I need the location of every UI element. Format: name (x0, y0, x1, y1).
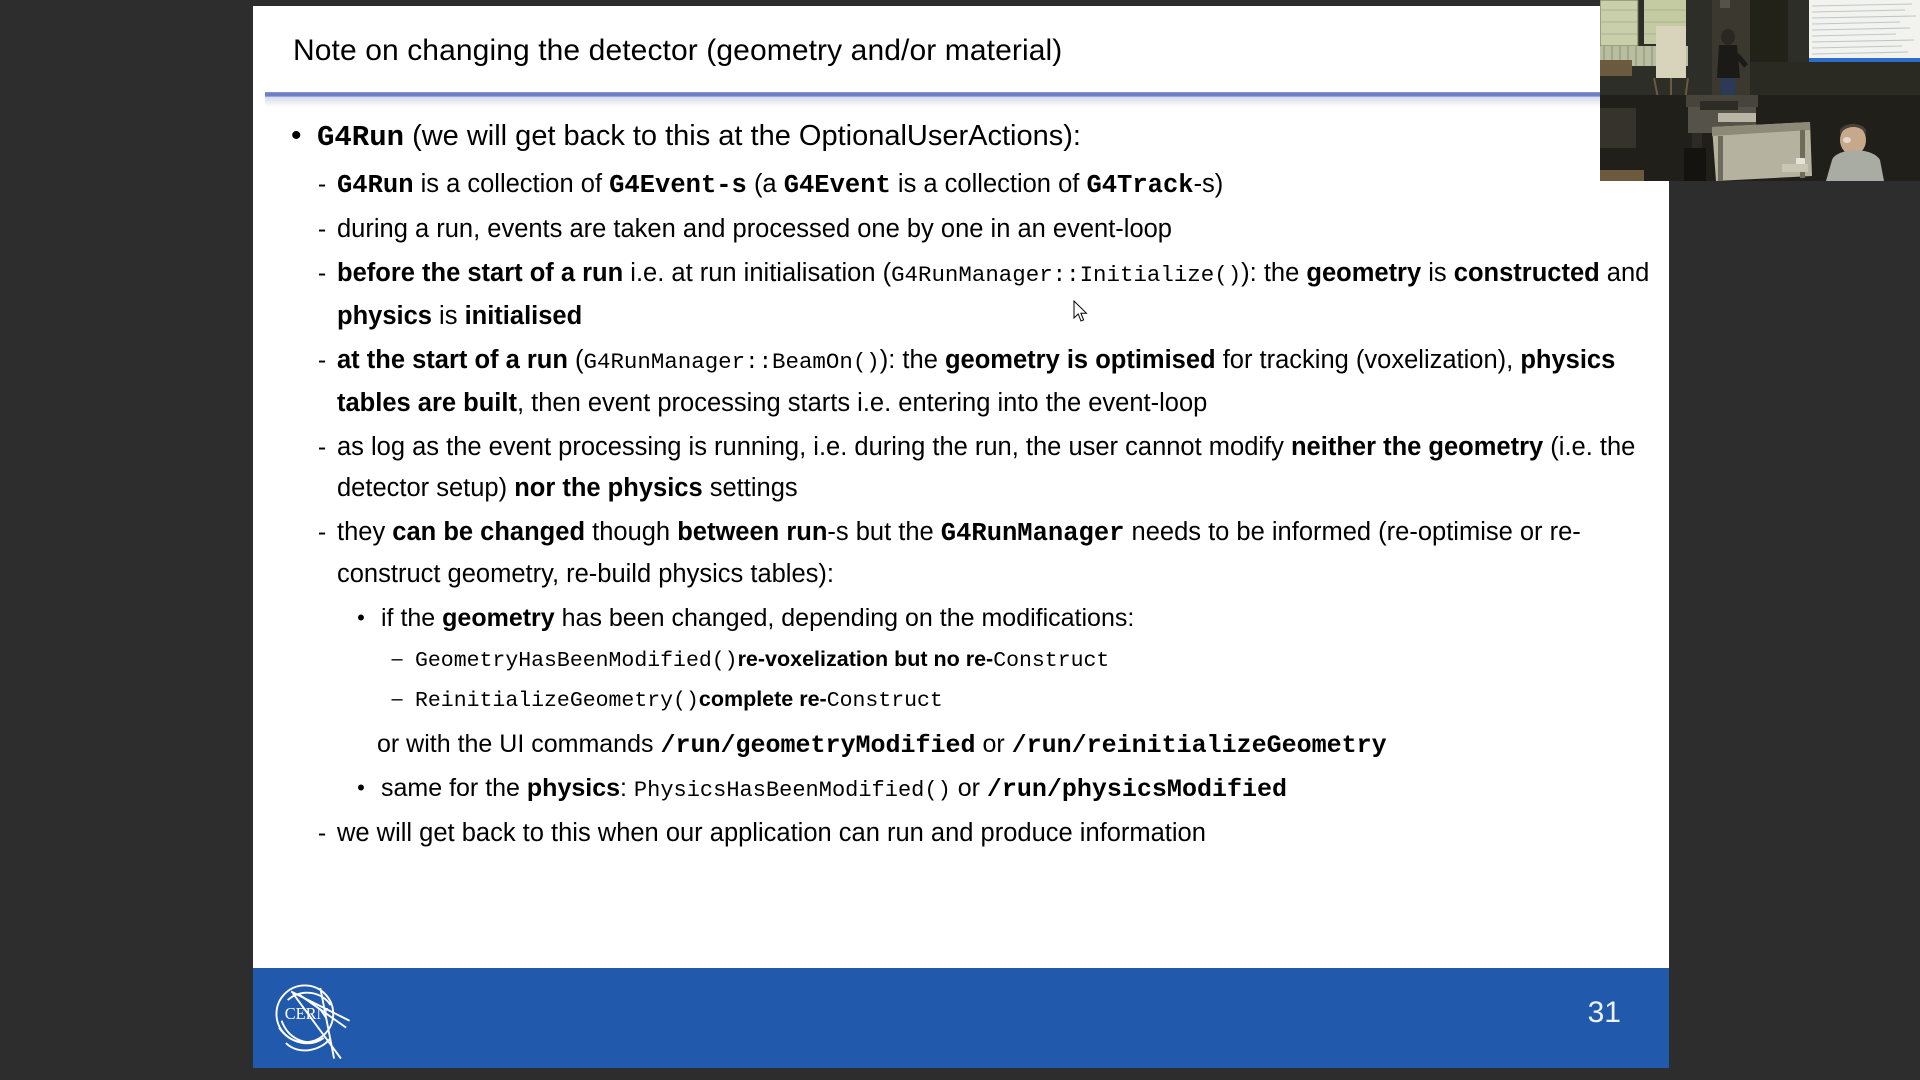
screen-root: Note on changing the detector (geometry … (0, 0, 1920, 1080)
txt-4b: ( (568, 346, 584, 374)
cmd-geometrymodified: /run/geometryModified (660, 731, 975, 760)
item-geometry-has-been-modified-text: GeometryHasBeenModified()re-voxelization… (415, 640, 1109, 680)
txt-1f: is a collection of (891, 170, 1087, 198)
item-ui-commands: or with the UI commands /run/geometryMod… (287, 724, 1657, 766)
code-g4run: G4Run (317, 121, 404, 154)
cern-logo: CERN (267, 976, 353, 1062)
item-as-log-as-text: as log as the event processing is runnin… (337, 427, 1657, 509)
page-number: 31 (1588, 996, 1621, 1030)
endash-marker: – (287, 680, 415, 718)
item-during-run: - during a run, events are taken and pro… (287, 209, 1657, 250)
presentation-slide: Note on changing the detector (geometry … (253, 6, 1669, 1068)
item-can-be-changed: - they can be changed though between run… (287, 512, 1657, 595)
code-initialize: G4RunManager::Initialize() (891, 262, 1241, 288)
txt-11c: : (620, 774, 634, 802)
item-ui-commands-text: or with the UI commands /run/geometryMod… (287, 724, 1387, 766)
item-get-back-later-text: we will get back to this when our applic… (337, 813, 1206, 854)
dash-marker: - (287, 427, 337, 468)
bullet-g4run-rest: (we will get back to this at the Optiona… (404, 120, 1081, 152)
txt-8b: re-voxelization but no re- (738, 647, 994, 671)
title-separator-shadow (265, 97, 1657, 107)
txt-5a: as log as the event processing is runnin… (337, 433, 1291, 461)
txt-3a: before the start of a run (337, 259, 623, 287)
txt-4a: at the start of a run (337, 346, 568, 374)
cern-logo-text: CERN (285, 1004, 329, 1023)
item-same-for-physics: • same for the physics: PhysicsHasBeenMo… (287, 768, 1657, 811)
slide-body: Note on changing the detector (geometry … (253, 6, 1669, 968)
code-g4event-s: G4Event-s (609, 171, 747, 200)
item-reinitialize-geometry-text: ReinitializeGeometry()complete re-Constr… (415, 680, 943, 720)
txt-10a: or with the UI commands (377, 730, 660, 758)
slide-footer: CERN 31 (253, 968, 1669, 1068)
txt-1d: (a (747, 170, 784, 198)
code-g4track: G4Track (1086, 171, 1193, 200)
txt-1h: -s) (1194, 170, 1224, 198)
txt-3d: ): the (1241, 259, 1306, 287)
item-as-log-as: - as log as the event processing is runn… (287, 427, 1657, 509)
code-geometryhasbeenmodified: GeometryHasBeenModified() (415, 649, 738, 673)
txt-10c: or (976, 730, 1012, 758)
item-during-run-text: during a run, events are taken and proce… (337, 209, 1172, 250)
dash-marker: - (287, 813, 337, 854)
bullet-g4run-text: G4Run (we will get back to this at the O… (317, 116, 1081, 158)
item-get-back-later: - we will get back to this when our appl… (287, 813, 1657, 854)
code-reinitializegeometry: ReinitializeGeometry() (415, 689, 699, 713)
txt-6a: they (337, 518, 392, 546)
txt-7c: has been changed, depending on the modif… (555, 604, 1135, 632)
txt-5b: neither the geometry (1291, 433, 1543, 461)
item-at-start: - at the start of a run (G4RunManager::B… (287, 340, 1657, 424)
txt-4d: ): the (880, 346, 945, 374)
code-construct-2: Construct (827, 689, 943, 713)
item-if-geometry-changed: • if the geometry has been changed, depe… (287, 598, 1657, 638)
txt-4f: for tracking (voxelization), (1216, 346, 1521, 374)
txt-3g: constructed (1454, 259, 1600, 287)
txt-3h: and (1600, 259, 1650, 287)
txt-3i: physics (337, 302, 432, 330)
txt-7b: geometry (442, 604, 555, 632)
txt-6e: -s but the (827, 518, 940, 546)
slide-title: Note on changing the detector (geometry … (293, 34, 1593, 68)
bullet-g4run: • G4Run (we will get back to this at the… (287, 116, 1657, 158)
code-g4runmanager: G4RunManager (941, 519, 1125, 548)
item-if-geometry-changed-text: if the geometry has been changed, depend… (381, 598, 1134, 638)
txt-1b: is a collection of (414, 170, 610, 198)
code-physicshasbeenmodified: PhysicsHasBeenModified() (634, 778, 951, 803)
dash-marker: - (287, 253, 337, 294)
bullet-marker: • (287, 116, 317, 156)
item-same-for-physics-text: same for the physics: PhysicsHasBeenModi… (381, 768, 1287, 811)
txt-11e: or (951, 774, 987, 802)
item-geometry-has-been-modified: – GeometryHasBeenModified()re-voxelizati… (287, 640, 1657, 680)
item-at-start-text: at the start of a run (G4RunManager::Bea… (337, 340, 1657, 424)
txt-7a: if the (381, 604, 442, 632)
txt-4h: , then event processing starts i.e. ente… (517, 389, 1207, 417)
txt-4e: geometry is optimised (945, 346, 1216, 374)
txt-9b: complete re- (699, 687, 827, 711)
code-beamon: G4RunManager::BeamOn() (584, 349, 880, 375)
code-construct-1: Construct (993, 649, 1109, 673)
txt-6c: though (585, 518, 677, 546)
txt-3b: i.e. at run initialisation ( (623, 259, 891, 287)
item-reinitialize-geometry: – ReinitializeGeometry()complete re-Cons… (287, 680, 1657, 720)
code-g4event: G4Event (784, 171, 891, 200)
cmd-reinitializegeometry: /run/reinitializeGeometry (1012, 731, 1387, 760)
bullet-marker: • (287, 598, 381, 638)
item-g4run-collection-text: G4Run is a collection of G4Event-s (a G4… (337, 164, 1223, 206)
dash-marker: - (287, 209, 337, 250)
txt-3j: is (432, 302, 465, 330)
item-before-start-text: before the start of a run i.e. at run in… (337, 253, 1657, 337)
item-g4run-collection: - G4Run is a collection of G4Event-s (a … (287, 164, 1657, 206)
item-before-start: - before the start of a run i.e. at run … (287, 253, 1657, 337)
txt-3e: geometry (1306, 259, 1421, 287)
cmd-physicsmodified: /run/physicsModified (987, 775, 1287, 804)
code-g4run-2: G4Run (337, 171, 414, 200)
txt-5e: settings (703, 474, 798, 502)
txt-11a: same for the (381, 774, 527, 802)
slide-content: • G4Run (we will get back to this at the… (287, 116, 1657, 857)
endash-marker: – (287, 640, 415, 678)
item-can-be-changed-text: they can be changed though between run-s… (337, 512, 1657, 595)
txt-5d: nor the physics (514, 474, 702, 502)
txt-3k: initialised (465, 302, 583, 330)
txt-6d: between run (677, 518, 827, 546)
txt-3f: is (1421, 259, 1454, 287)
dash-marker: - (287, 512, 337, 553)
dash-marker: - (287, 340, 337, 381)
webcam-video-frame (1600, 0, 1920, 181)
txt-11b: physics (527, 774, 620, 802)
bullet-marker: • (287, 768, 381, 808)
webcam-overlay[interactable] (1600, 0, 1920, 181)
dash-marker: - (287, 164, 337, 205)
txt-6b: can be changed (392, 518, 585, 546)
